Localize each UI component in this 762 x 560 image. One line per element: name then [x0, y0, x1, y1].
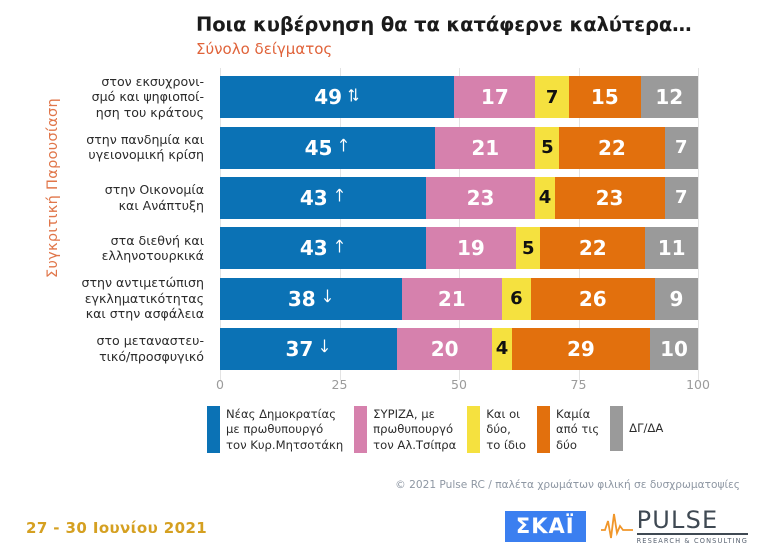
bar-value: 7 [546, 87, 559, 108]
bar-segment: 9 [655, 278, 698, 320]
bar-segment: 38 [220, 278, 402, 320]
bar-value: 5 [541, 137, 554, 158]
legend-label: ΣΥΡΙΖΑ, με πρωθυπουργό τον Αλ.Τσίπρα [373, 406, 456, 453]
legend-label: Και οι δύο, το ίδιο [486, 406, 526, 453]
bar-value: 21 [438, 287, 466, 311]
bar-segment: 26 [531, 278, 655, 320]
x-tick-label: 100 [686, 377, 710, 392]
trend-up-icon [337, 137, 350, 156]
bar-segment: 49 [220, 76, 454, 118]
legend-swatch [610, 406, 623, 451]
legend-label: Καμία από τις δύο [556, 406, 599, 453]
bar-row: 43234237 [220, 177, 698, 219]
bar-segment: 15 [569, 76, 641, 118]
bar-value: 5 [522, 238, 535, 259]
legend-swatch [354, 406, 367, 453]
bar-value: 19 [457, 236, 485, 260]
bar-value: 45 [305, 136, 333, 160]
bar-segment: 19 [426, 227, 517, 269]
bar-row: 491771512 [220, 76, 698, 118]
x-tick-label: 75 [571, 377, 587, 392]
bar-segment: 20 [397, 328, 493, 370]
bar-value: 26 [579, 287, 607, 311]
bar-segment: 4 [535, 177, 554, 219]
bar-value: 49 [314, 85, 342, 109]
bar-value: 10 [660, 337, 688, 361]
bar-value: 43 [300, 236, 328, 260]
stacked-bars: 4917715124521522743234237431952211382162… [220, 72, 698, 374]
chart-legend: Νέας Δημοκρατίας με πρωθυπουργό τον Κυρ.… [207, 406, 663, 453]
x-tick-label: 0 [216, 377, 224, 392]
bar-segment: 37 [220, 328, 397, 370]
pulse-wordmark: PULSE [637, 508, 748, 535]
bar-segment: 10 [650, 328, 698, 370]
bar-value: 4 [539, 187, 552, 208]
bar-row: 431952211 [220, 227, 698, 269]
bar-value: 20 [431, 337, 459, 361]
bar-segment: 22 [559, 127, 664, 169]
bar-segment: 6 [502, 278, 531, 320]
bar-value: 9 [669, 287, 683, 311]
bar-value: 43 [300, 186, 328, 210]
bar-row: 45215227 [220, 127, 698, 169]
bar-segment: 5 [535, 127, 559, 169]
bar-segment: 7 [665, 127, 698, 169]
pulse-tagline: RESEARCH & CONSULTING [637, 538, 748, 545]
legend-label: Νέας Δημοκρατίας με πρωθυπουργό τον Κυρ.… [226, 406, 343, 453]
category-label: στον εκσυχρονι-σμό και ψηφιοποί-ηση του … [39, 74, 204, 120]
bar-segment: 4 [492, 328, 511, 370]
pulse-logo-text: PULSE RESEARCH & CONSULTING [637, 508, 748, 545]
date-range: 27 - 30 Ιουνίου 2021 [26, 519, 207, 537]
bar-segment: 12 [641, 76, 698, 118]
legend-item[interactable]: Νέας Δημοκρατίας με πρωθυπουργό τον Κυρ.… [207, 406, 343, 453]
bar-segment: 23 [426, 177, 536, 219]
category-label: στην πανδημία καιυγειονομική κρίση [39, 132, 204, 163]
bar-value: 4 [496, 338, 509, 359]
waveform-icon [600, 511, 634, 541]
plot-area: 4917715124521522743234237431952211382162… [220, 72, 698, 374]
chart-subtitle: Σύνολο δείγματος [196, 41, 736, 58]
bar-value: 23 [596, 186, 624, 210]
bar-segment: 11 [645, 227, 698, 269]
x-tick-label: 25 [332, 377, 348, 392]
bar-value: 23 [467, 186, 495, 210]
legend-item[interactable]: Και οι δύο, το ίδιο [467, 406, 526, 453]
legend-label: ΔΓ/ΔΑ [629, 406, 663, 451]
bar-segment: 7 [535, 76, 568, 118]
x-axis: 0255075100 [220, 374, 698, 396]
gridline-100 [698, 68, 699, 380]
bar-value: 7 [675, 187, 688, 208]
bar-segment: 23 [555, 177, 665, 219]
legend-swatch [207, 406, 220, 453]
x-tick-label: 50 [451, 377, 467, 392]
bar-segment: 21 [435, 127, 535, 169]
legend-swatch [537, 406, 550, 453]
credit-line: © 2021 Pulse RC / παλέτα χρωμάτων φιλική… [0, 479, 740, 491]
bar-row: 372042910 [220, 328, 698, 370]
category-label: στην αντιμετώπισηεγκληματικότηταςκαι στη… [39, 275, 204, 321]
trend-up-icon [333, 187, 346, 206]
category-label: στα διεθνή καιελληνοτουρκικά [39, 233, 204, 264]
bar-value: 6 [510, 288, 523, 309]
page-title: Ποια κυβέρνηση θα τα κατάφερνε καλύτερα… [196, 14, 736, 36]
bar-value: 7 [675, 137, 688, 158]
category-label: στο μεταναστευ-τικό/προσφυγικό [39, 333, 204, 364]
trend-stable-icon [347, 87, 360, 106]
title-block: Ποια κυβέρνηση θα τα κατάφερνε καλύτερα…… [196, 14, 736, 59]
bar-value: 22 [598, 136, 626, 160]
bar-segment: 43 [220, 177, 426, 219]
bar-segment: 5 [516, 227, 540, 269]
category-label: στην Οικονομίακαι Ανάπτυξη [39, 182, 204, 213]
bar-segment: 21 [402, 278, 502, 320]
legend-item[interactable]: ΣΥΡΙΖΑ, με πρωθυπουργό τον Αλ.Τσίπρα [354, 406, 456, 453]
bar-value: 12 [655, 85, 683, 109]
bar-segment: 43 [220, 227, 426, 269]
legend-swatch [467, 406, 480, 453]
bar-value: 29 [567, 337, 595, 361]
trend-up-icon [333, 238, 346, 257]
skai-logo: ΣΚΑΪ [505, 511, 586, 542]
category-labels: στον εκσυχρονι-σμό και ψηφιοποί-ηση του … [40, 72, 212, 374]
bar-value: 11 [658, 236, 686, 260]
bar-value: 22 [579, 236, 607, 260]
trend-down-icon [318, 338, 331, 357]
bar-segment: 17 [454, 76, 535, 118]
bar-value: 21 [471, 136, 499, 160]
bar-row: 38216269 [220, 278, 698, 320]
footer-logos: ΣΚΑΪ PULSE RESEARCH & CONSULTING [505, 508, 748, 545]
legend-item[interactable]: ΔΓ/ΔΑ [610, 406, 663, 451]
bar-segment: 22 [540, 227, 645, 269]
bar-segment: 7 [665, 177, 698, 219]
bar-value: 17 [481, 85, 509, 109]
bar-value: 15 [591, 85, 619, 109]
bar-value: 38 [288, 287, 316, 311]
bar-segment: 45 [220, 127, 435, 169]
bar-segment: 29 [512, 328, 651, 370]
bar-value: 37 [286, 337, 314, 361]
trend-down-icon [321, 288, 334, 307]
pulse-logo: PULSE RESEARCH & CONSULTING [600, 508, 748, 545]
legend-item[interactable]: Καμία από τις δύο [537, 406, 599, 453]
